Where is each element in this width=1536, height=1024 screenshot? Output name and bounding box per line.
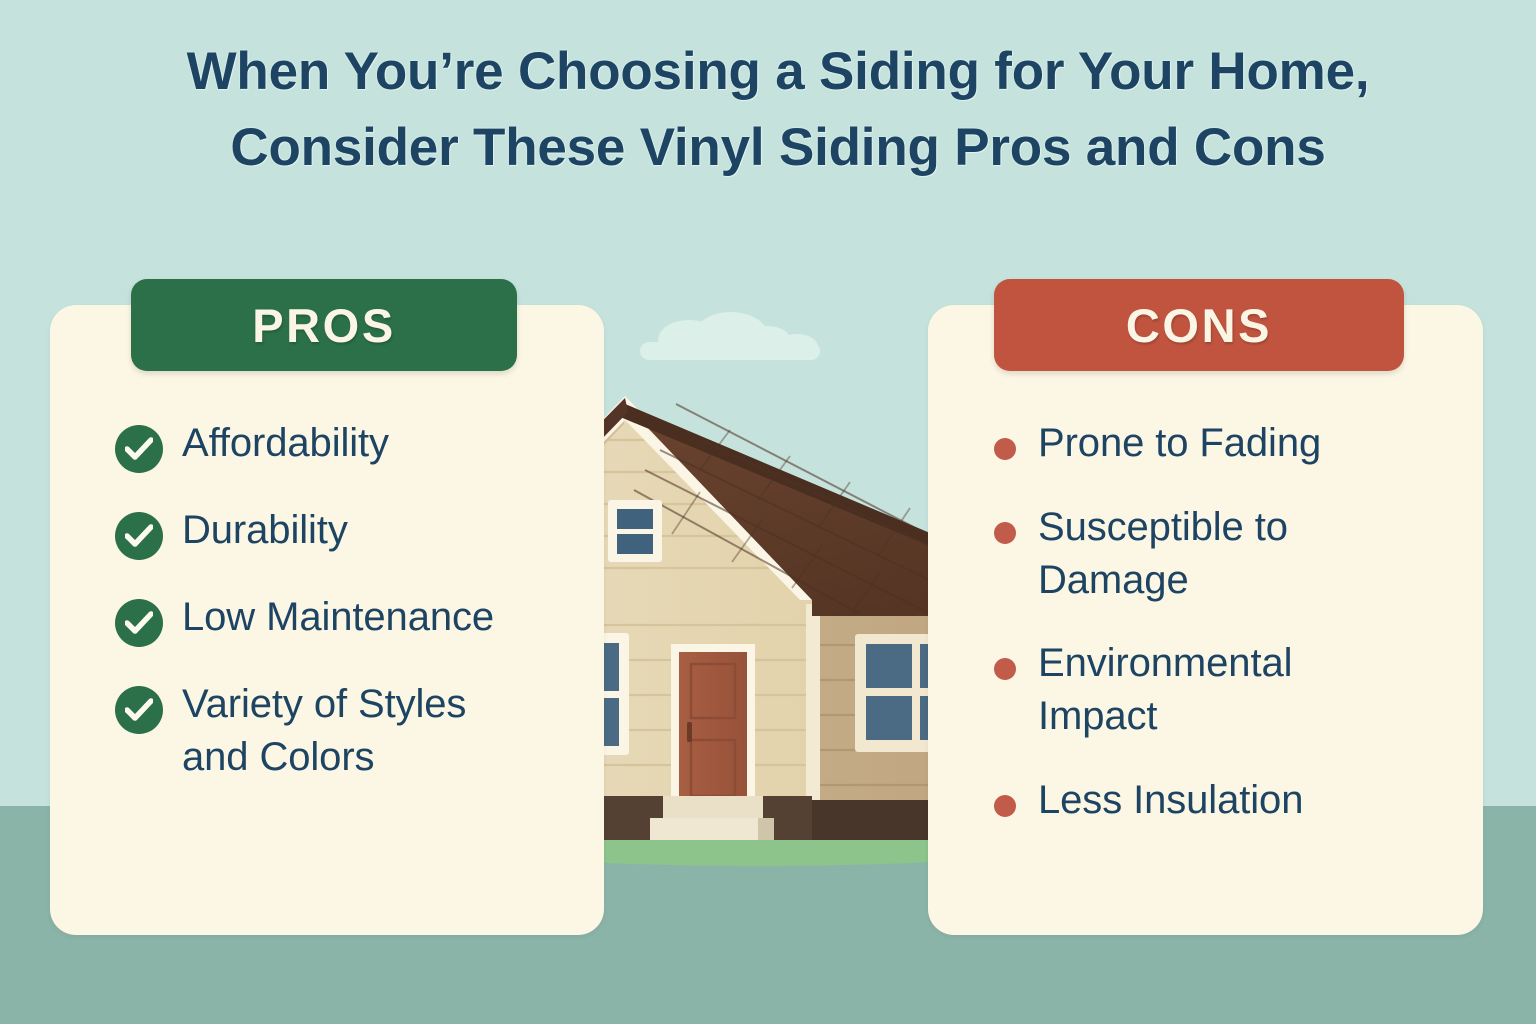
cons-badge: CONS xyxy=(994,279,1404,371)
list-item-label: Affordability xyxy=(182,417,389,470)
check-circle-icon xyxy=(115,599,163,647)
pros-badge: PROS xyxy=(131,279,517,371)
list-item: Low Maintenance xyxy=(50,591,604,647)
list-item-label: Low Maintenance xyxy=(182,591,494,644)
cons-card: CONS Prone to Fading Susceptible to Dama… xyxy=(928,305,1483,935)
list-item: Environmental Impact xyxy=(928,637,1483,743)
bullet-dot-icon xyxy=(994,658,1016,680)
list-item: Susceptible to Damage xyxy=(928,501,1483,607)
list-item: Less Insulation xyxy=(928,774,1483,827)
list-item-label: Prone to Fading xyxy=(1038,417,1321,470)
pros-card: PROS Affordability Durability xyxy=(50,305,604,935)
list-item: Variety of Styles and Colors xyxy=(50,678,604,784)
check-circle-icon xyxy=(115,512,163,560)
list-item: Affordability xyxy=(50,417,604,473)
bullet-dot-icon xyxy=(994,438,1016,460)
bullet-dot-icon xyxy=(994,795,1016,817)
list-item-label: Durability xyxy=(182,504,348,557)
pros-list: Affordability Durability Low Maintenance xyxy=(50,417,604,815)
infographic-canvas: PROS Affordability Durability xyxy=(0,0,1536,1024)
page-title: When You’re Choosing a Siding for Your H… xyxy=(118,34,1438,187)
check-circle-icon xyxy=(115,425,163,473)
list-item-label: Less Insulation xyxy=(1038,774,1303,827)
list-item-label: Variety of Styles and Colors xyxy=(182,678,512,784)
cons-list: Prone to Fading Susceptible to Damage En… xyxy=(928,417,1483,858)
bullet-dot-icon xyxy=(994,522,1016,544)
check-circle-icon xyxy=(115,686,163,734)
list-item: Durability xyxy=(50,504,604,560)
list-item-label: Environmental Impact xyxy=(1038,637,1378,743)
list-item-label: Susceptible to Damage xyxy=(1038,501,1378,607)
list-item: Prone to Fading xyxy=(928,417,1483,470)
cloud-icon xyxy=(640,312,820,360)
